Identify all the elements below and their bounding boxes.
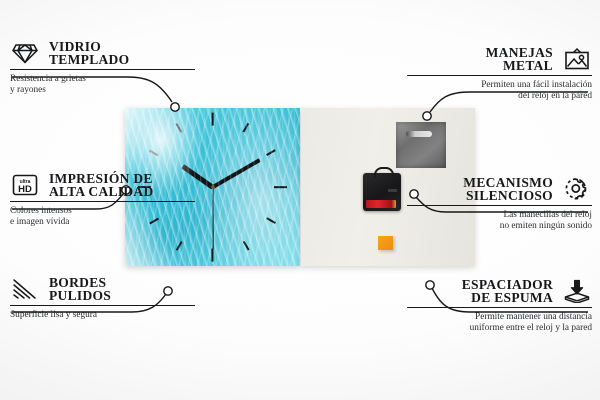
- hd-label: HD: [18, 184, 32, 195]
- feature-header: ESPACIADOR DE ESPUMA: [407, 278, 592, 307]
- ultra-hd-icon: ultra HD: [10, 172, 40, 198]
- clock-tick: [274, 186, 287, 188]
- clock-minute-hand: [212, 158, 261, 189]
- feature-header: MECANISMO SILENCIOSO: [407, 176, 592, 205]
- feature-espaciador-espuma: ESPACIADOR DE ESPUMA Permite mantener un…: [407, 278, 592, 335]
- clock-tick: [267, 218, 276, 224]
- movement-detail: [388, 189, 397, 192]
- clock-tick: [267, 150, 276, 156]
- clock-tick: [243, 241, 249, 250]
- feature-subtitle: Permiten una fácil instalación del reloj…: [407, 76, 592, 103]
- wall-frame-hook-icon: [562, 46, 592, 72]
- feature-title: BORDES PULIDOS: [49, 276, 111, 302]
- clock-hub: [211, 185, 215, 189]
- feature-header: MANEJAS METAL: [407, 46, 592, 75]
- feature-impresion-alta-calidad: ultra HD IMPRESIÓN DE ALTA CALIDAD Color…: [10, 172, 195, 229]
- diamond-icon: [10, 40, 40, 66]
- aa-battery: [366, 200, 396, 208]
- infographic-canvas: VIDRIO TEMPLADO Resistencia a grietas y …: [0, 0, 600, 400]
- feature-mecanismo-silencioso: MECANISMO SILENCIOSO Las manecillas del …: [407, 176, 592, 233]
- clock-tick: [175, 241, 181, 250]
- feature-subtitle: Resistencia a grietas y rayones: [10, 70, 195, 97]
- clock-tick: [211, 113, 213, 126]
- clock-tick: [175, 123, 181, 132]
- feature-header: VIDRIO TEMPLADO: [10, 40, 195, 69]
- clock-tick: [243, 123, 249, 132]
- feature-header: BORDES PULIDOS: [10, 276, 195, 305]
- feature-subtitle: Permite mantener una distancia uniforme …: [407, 308, 592, 335]
- gear-icon: [562, 176, 592, 202]
- feature-subtitle: Colores intensos e imagen vívida: [10, 202, 195, 229]
- feature-title: IMPRESIÓN DE ALTA CALIDAD: [49, 172, 154, 198]
- feature-vidrio-templado: VIDRIO TEMPLADO Resistencia a grietas y …: [10, 40, 195, 97]
- clock-second-hand: [212, 187, 213, 250]
- clock-tick: [149, 150, 158, 156]
- clock-tick: [211, 248, 213, 261]
- feature-title: ESPACIADOR DE ESPUMA: [462, 278, 553, 304]
- feature-subtitle: Superficie lisa y segura: [10, 306, 195, 321]
- arrow-down-onto-pad-icon: [562, 278, 592, 304]
- feature-title: MECANISMO SILENCIOSO: [463, 176, 553, 202]
- feature-header: ultra HD IMPRESIÓN DE ALTA CALIDAD: [10, 172, 195, 201]
- polished-edge-lines-icon: [10, 276, 40, 302]
- quartz-movement: [363, 173, 401, 211]
- feature-title: VIDRIO TEMPLADO: [49, 40, 129, 66]
- orange-foam-spacer: [378, 236, 393, 250]
- hanger-slot: [406, 131, 432, 137]
- feature-bordes-pulidos: BORDES PULIDOS Superficie lisa y segura: [10, 276, 195, 321]
- metal-hanger-plate: [396, 122, 446, 168]
- hanger-loop: [374, 167, 394, 178]
- feature-manejas-metal: MANEJAS METAL Permiten una fácil instala…: [407, 46, 592, 103]
- feature-title: MANEJAS METAL: [486, 46, 553, 72]
- feature-subtitle: Las manecillas del reloj no emiten ningú…: [407, 206, 592, 233]
